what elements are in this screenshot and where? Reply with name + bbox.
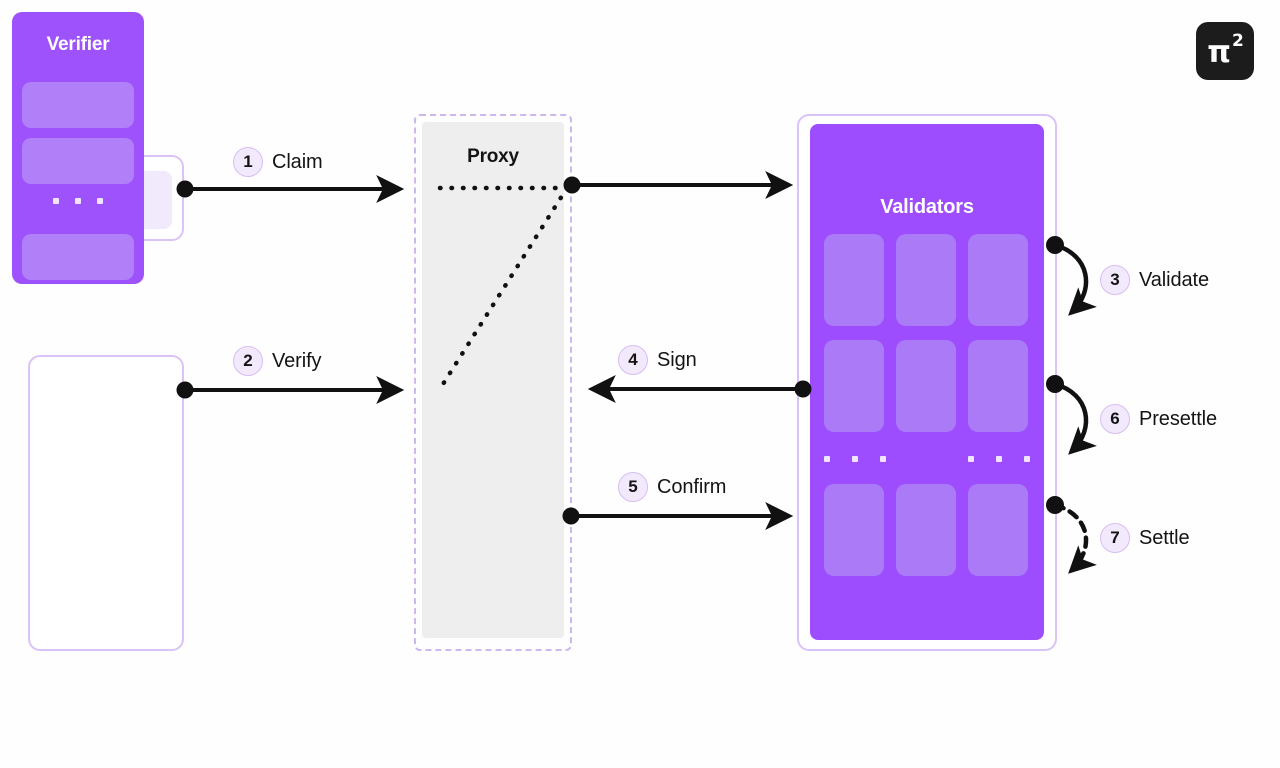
verifier-card: [22, 138, 134, 184]
validators-ellipsis-icon: [824, 456, 1030, 462]
verifier-node[interactable]: [28, 355, 184, 651]
proxy-title: Proxy: [422, 146, 564, 168]
step-number-badge: 6: [1100, 404, 1130, 434]
verifier-card: [22, 82, 134, 128]
validator-card: [896, 484, 956, 576]
step-validate: 3 Validate: [1100, 265, 1209, 295]
connector-layer: [0, 0, 1280, 768]
verifier-card: [22, 234, 134, 280]
validator-card: [968, 484, 1028, 576]
step-label: Confirm: [657, 476, 726, 499]
step-label: Sign: [657, 349, 697, 372]
connector-proxy-to-validators-top: [564, 177, 790, 194]
step-presettle: 6 Presettle: [1100, 404, 1217, 434]
validators-title: Validators: [810, 196, 1044, 219]
step-number-badge: 4: [618, 345, 648, 375]
step-settle: 7 Settle: [1100, 523, 1190, 553]
validator-card: [824, 484, 884, 576]
step-label: Settle: [1139, 527, 1190, 550]
connector-claim: [177, 181, 401, 198]
verifier-ellipsis-icon: [12, 198, 144, 204]
proxy-node[interactable]: [414, 114, 572, 651]
step-verify: 2 Verify: [233, 346, 321, 376]
connector-verify: [177, 382, 401, 399]
validator-card: [824, 340, 884, 432]
validator-card: [968, 234, 1028, 326]
validator-card: [896, 234, 956, 326]
validator-card: [968, 340, 1028, 432]
step-number-badge: 1: [233, 147, 263, 177]
step-number-badge: 7: [1100, 523, 1130, 553]
connector-sign: [592, 381, 812, 398]
verifier-inner-panel: Verifier: [12, 12, 144, 284]
step-number-badge: 5: [618, 472, 648, 502]
step-sign: 4 Sign: [618, 345, 697, 375]
step-label: Validate: [1139, 269, 1209, 292]
validator-card: [896, 340, 956, 432]
diagram-canvas: π2 Client Verifier Proxy Validators: [0, 0, 1280, 768]
logo-pi-glyph: π: [1207, 38, 1231, 68]
step-number-badge: 3: [1100, 265, 1130, 295]
step-claim: 1 Claim: [233, 147, 323, 177]
step-confirm: 5 Confirm: [618, 472, 726, 502]
step-label: Verify: [272, 350, 321, 373]
connector-confirm: [563, 508, 790, 525]
step-label: Claim: [272, 151, 323, 174]
step-number-badge: 2: [233, 346, 263, 376]
verifier-title: Verifier: [12, 34, 144, 56]
logo-superscript: 2: [1232, 33, 1244, 50]
step-label: Presettle: [1139, 408, 1217, 431]
pi-squared-logo: π2: [1196, 22, 1254, 80]
validator-card: [824, 234, 884, 326]
